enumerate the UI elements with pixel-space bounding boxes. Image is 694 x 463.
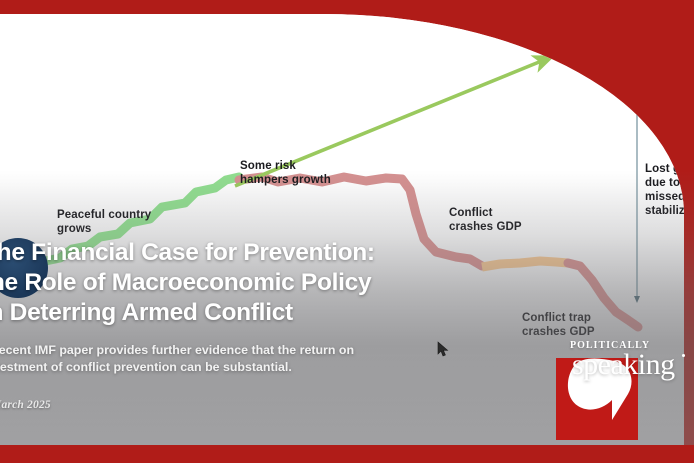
logo-dot-icon (682, 354, 685, 357)
politically-speaking-logo[interactable]: POLITICALLY speaking (556, 340, 694, 445)
logo-word-speaking: speaking (572, 348, 675, 382)
measure-arrow-bottom-icon (634, 296, 640, 303)
title-overlay: The Financial Case for Prevention: the R… (0, 238, 452, 377)
publish-date: 0 March 2025 (0, 399, 51, 411)
measure-arrow-top-icon (634, 61, 640, 68)
page-title: The Financial Case for Prevention: the R… (0, 238, 452, 328)
mouse-cursor-icon (437, 341, 451, 359)
annotation-peaceful-country-grows: Peaceful country grows (57, 208, 151, 236)
annotation-some-risk-hampers-growth: Some risk hampers growth (240, 159, 331, 187)
series-conflict-trap-plateau (482, 261, 568, 267)
slide-frame: Peaceful country grows Some risk hampers… (0, 0, 694, 463)
frame-bottom-band (0, 445, 694, 463)
annotation-conflict-crashes-gdp: Conflict crashes GDP (449, 206, 522, 234)
annotation-conflict-trap-crashes-gdp: Conflict trap crashes GDP (522, 311, 595, 339)
page-subtitle: A recent IMF paper provides further evid… (0, 342, 452, 376)
annotation-lost-growth-missed-stabilization: Lost grow due to missed e stabiliza (645, 162, 684, 218)
